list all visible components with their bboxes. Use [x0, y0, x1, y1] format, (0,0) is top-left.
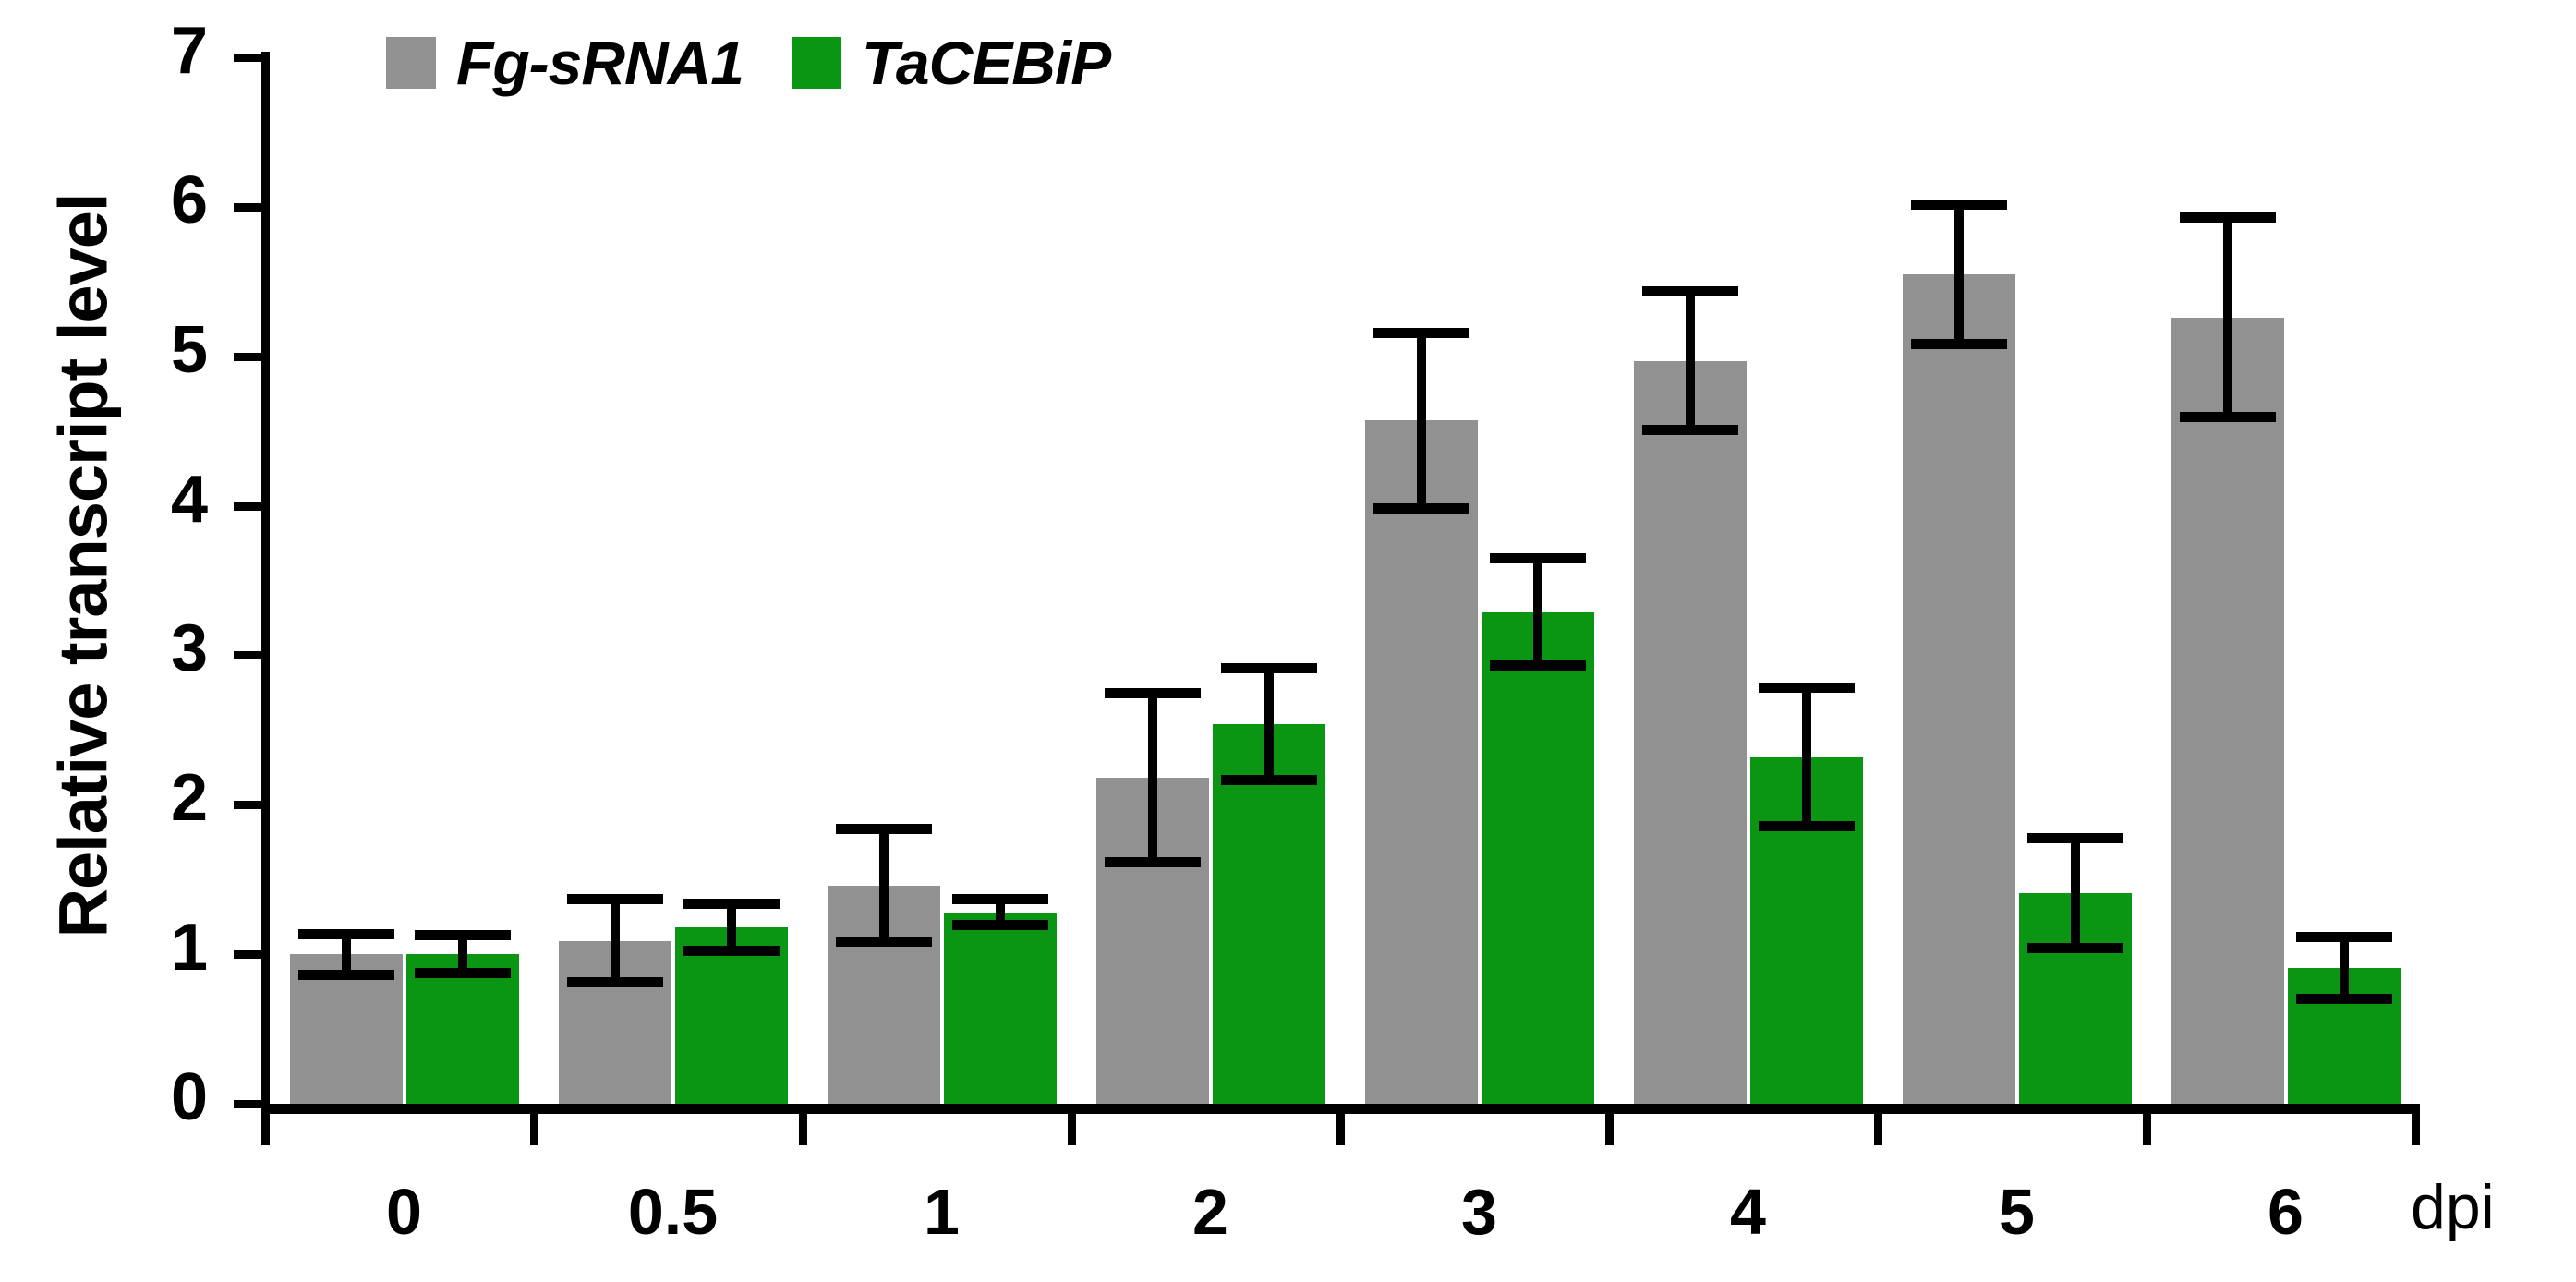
error-bar-cap-upper [1221, 663, 1317, 673]
x-tick-5 [1605, 1114, 1614, 1145]
legend-item-tacebip[interactable]: TaCEBiP [792, 28, 1110, 98]
error-bar-cap-lower [1221, 775, 1317, 785]
x-tick-8 [2412, 1114, 2420, 1145]
error-bar-cap-lower [298, 970, 394, 980]
error-bar-cap-lower [1642, 425, 1738, 435]
x-tick-3 [1068, 1114, 1076, 1145]
bar-fg-srna1-3 [1365, 420, 1478, 1104]
legend-item-fg-srna1[interactable]: Fg-sRNA1 [386, 28, 744, 98]
legend-swatch-tacebip [792, 37, 841, 89]
error-bar-cap-upper [1373, 328, 1469, 338]
error-bar-cap-upper [1642, 286, 1738, 296]
error-bar-stem [1802, 683, 1811, 832]
x-axis-title: dpi [2411, 1171, 2495, 1243]
x-tick-label-3: 3 [1341, 1175, 1618, 1249]
x-tick-label-4: 4 [1610, 1175, 1887, 1249]
error-bar-cap-lower [1373, 503, 1469, 514]
error-bar-cap-upper [683, 899, 780, 909]
y-tick-label-7: 7 [97, 13, 208, 89]
x-tick-2 [799, 1114, 807, 1145]
error-bar-stem [1264, 663, 1274, 786]
bar-chart-figure: Relative transcript level Fg-sRNA1 TaCEB… [0, 0, 2576, 1282]
error-bar-fg-srna1-5 [1903, 200, 2015, 349]
y-tick-3 [234, 651, 261, 659]
error-bar-cap-lower [415, 968, 511, 978]
bar-fg-srna1-4 [1634, 361, 1747, 1104]
x-tick-1 [530, 1114, 538, 1145]
x-tick-label-0: 0 [266, 1175, 543, 1249]
x-tick-label-0-5: 0.5 [535, 1175, 812, 1249]
y-axis-title: Relative transcript level [44, 151, 123, 982]
bar-tacebip-3 [1482, 612, 1594, 1105]
error-bar-tacebip-5 [2019, 833, 2132, 952]
bar-fg-srna1-5 [1903, 274, 2015, 1104]
error-bar-cap-lower [1105, 857, 1201, 867]
error-bar-cap-upper [415, 930, 511, 940]
error-bar-tacebip-2 [1213, 663, 1325, 786]
error-bar-stem [1533, 553, 1542, 670]
bar-fg-srna1-6 [2171, 318, 2284, 1104]
x-tick-label-5: 5 [1879, 1175, 2156, 1249]
legend-swatch-fg-srna1 [386, 37, 436, 89]
error-bar-stem [1148, 688, 1157, 867]
error-bar-fg-srna1-6 [2171, 212, 2284, 422]
error-bar-stem [1686, 286, 1695, 436]
y-tick-2 [234, 801, 261, 809]
y-tick-label-2: 2 [97, 760, 208, 836]
error-bar-cap-lower [1911, 339, 2007, 349]
y-tick-label-6: 6 [97, 163, 208, 238]
y-tick-0 [234, 1100, 261, 1108]
error-bar-fg-srna1-2 [1096, 688, 1209, 867]
y-tick-label-5: 5 [97, 312, 208, 388]
x-tick-6 [1874, 1114, 1882, 1145]
error-bar-tacebip-0-5 [675, 899, 788, 956]
error-bar-tacebip-3 [1482, 553, 1594, 670]
error-bar-cap-upper [1759, 683, 1855, 693]
error-bar-fg-srna1-0-5 [559, 894, 671, 986]
error-bar-cap-upper [2180, 212, 2276, 223]
error-bar-cap-lower [1490, 660, 1586, 671]
y-tick-5 [234, 353, 261, 361]
error-bar-cap-lower [1759, 821, 1855, 831]
error-bar-tacebip-1 [944, 894, 1057, 930]
error-bar-cap-upper [952, 894, 1048, 904]
error-bar-tacebip-0 [406, 930, 519, 978]
error-bar-stem [611, 894, 620, 986]
error-bar-cap-upper [2296, 932, 2392, 942]
error-bar-cap-upper [1105, 688, 1201, 698]
error-bar-fg-srna1-1 [828, 824, 940, 947]
x-tick-7 [2143, 1114, 2151, 1145]
error-bar-cap-upper [1490, 553, 1586, 563]
error-bar-cap-upper [836, 824, 932, 834]
y-tick-6 [234, 203, 261, 212]
error-bar-cap-lower [567, 977, 663, 987]
y-tick-label-1: 1 [97, 910, 208, 986]
error-bar-tacebip-6 [2288, 932, 2401, 1004]
error-bar-stem [2071, 833, 2080, 952]
y-tick-7 [234, 54, 261, 62]
error-bar-cap-upper [2027, 833, 2123, 843]
error-bar-stem [879, 824, 889, 947]
legend-label-tacebip: TaCEBiP [862, 28, 1110, 98]
error-bar-cap-lower [2180, 412, 2276, 422]
chart-legend: Fg-sRNA1 TaCEBiP [386, 28, 1110, 98]
error-bar-cap-lower [2027, 943, 2123, 953]
y-tick-1 [234, 950, 261, 959]
error-bar-fg-srna1-4 [1634, 286, 1747, 436]
error-bar-cap-lower [2296, 994, 2392, 1004]
y-tick-label-3: 3 [97, 611, 208, 686]
x-tick-0 [261, 1114, 270, 1145]
x-tick-label-2: 2 [1072, 1175, 1349, 1249]
error-bar-cap-upper [298, 929, 394, 939]
x-tick-label-6: 6 [2147, 1175, 2425, 1249]
x-tick-4 [1336, 1114, 1345, 1145]
x-axis-line [261, 1104, 2420, 1114]
legend-label-fg-srna1: Fg-sRNA1 [456, 28, 744, 98]
error-bar-cap-lower [952, 920, 1048, 930]
error-bar-stem [1954, 200, 1964, 349]
error-bar-fg-srna1-0 [290, 929, 403, 980]
y-tick-label-4: 4 [97, 462, 208, 538]
error-bar-stem [1417, 328, 1426, 514]
y-tick-4 [234, 502, 261, 511]
bar-tacebip-1 [944, 913, 1057, 1104]
y-axis-line [261, 52, 270, 1109]
error-bar-cap-lower [836, 937, 932, 947]
error-bar-stem [2223, 212, 2232, 422]
y-tick-label-0: 0 [97, 1059, 208, 1135]
error-bar-cap-lower [683, 946, 780, 956]
error-bar-fg-srna1-3 [1365, 328, 1478, 514]
error-bar-cap-upper [1911, 200, 2007, 210]
error-bar-cap-upper [567, 894, 663, 904]
error-bar-tacebip-4 [1750, 683, 1863, 832]
x-tick-label-1: 1 [804, 1175, 1081, 1249]
